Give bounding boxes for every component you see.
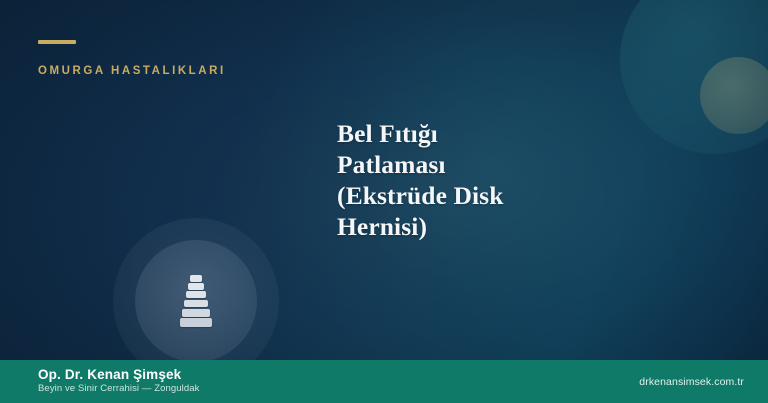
title-line: Hernisi) xyxy=(337,211,637,242)
doctor-name: Op. Dr. Kenan Şimşek xyxy=(38,368,199,383)
page-title: Bel Fıtığı Patlaması (Ekstrüde Disk Hern… xyxy=(337,118,637,242)
website-url[interactable]: drkenansimsek.com.tr xyxy=(639,376,744,388)
vertebra-segment xyxy=(184,300,208,308)
vertebra-segment xyxy=(186,291,206,298)
spine-badge-inner xyxy=(135,240,257,362)
decorative-circle-small xyxy=(700,57,768,134)
eyebrow-block: OMURGA HASTALIKLARI xyxy=(38,40,226,77)
vertebra-segment xyxy=(188,283,204,290)
vertebra-segment xyxy=(180,318,212,327)
hero-card: OMURGA HASTALIKLARI Bel Fıtığı Patlaması… xyxy=(0,0,768,403)
vertebra-segment xyxy=(190,275,202,282)
title-line: Bel Fıtığı xyxy=(337,118,637,149)
title-line: Patlaması xyxy=(337,149,637,180)
title-line: (Ekstrüde Disk xyxy=(337,180,637,211)
spine-vertebrae-icon xyxy=(180,275,212,327)
eyebrow-label: OMURGA HASTALIKLARI xyxy=(38,65,226,77)
vertebra-segment xyxy=(182,309,210,317)
footer-bar: Op. Dr. Kenan Şimşek Beyin ve Sinir Cerr… xyxy=(0,360,768,403)
doctor-specialty: Beyin ve Sinir Cerrahisi — Zonguldak xyxy=(38,384,199,394)
accent-rule xyxy=(38,40,76,44)
footer-identity: Op. Dr. Kenan Şimşek Beyin ve Sinir Cerr… xyxy=(38,368,199,394)
